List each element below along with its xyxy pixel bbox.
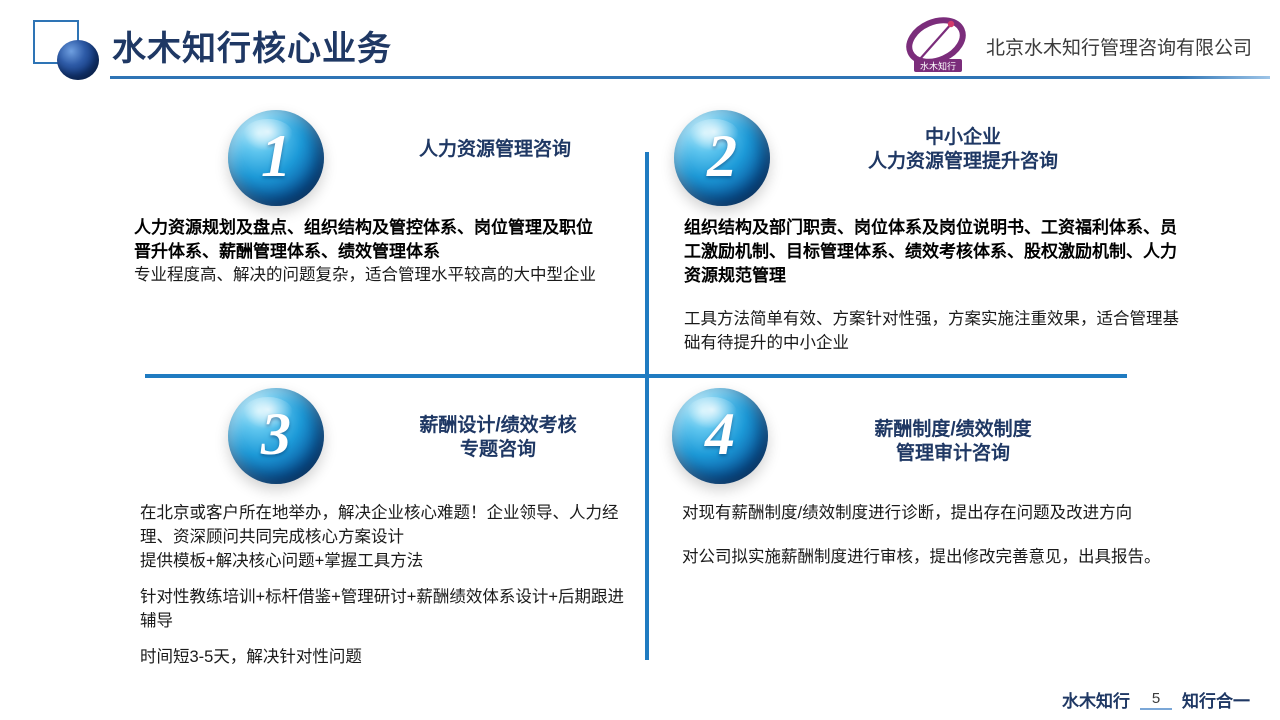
- company-name: 北京水木知行管理咨询有限公司: [986, 33, 1252, 60]
- number-badge-4: 4: [672, 388, 768, 484]
- quadrant-1-title: 人力资源管理咨询: [360, 138, 630, 162]
- quadrant-4-paragraph-1: 对现有薪酬制度/绩效制度进行诊断，提出存在问题及改进方向: [682, 502, 1162, 526]
- footer-left-text: 水木知行: [1062, 687, 1130, 712]
- badge-number-label: 1: [261, 126, 291, 186]
- quadrant-3: 3 薪酬设计/绩效考核 专题咨询 在北京或客户所在地举办，解决企业核心难题！企业…: [128, 388, 648, 670]
- number-badge-1: 1: [228, 110, 324, 206]
- quadrant-1-body: 人力资源规划及盘点、组织结构及管控体系、岗位管理及职位晋升体系、薪酬管理体系、绩…: [134, 216, 604, 288]
- page-number-block: 5: [1136, 688, 1176, 712]
- quadrant-1-bold-text: 人力资源规划及盘点、组织结构及管控体系、岗位管理及职位晋升体系、薪酬管理体系、绩…: [134, 216, 604, 264]
- quadrant-2-title: 中小企业 人力资源管理提升咨询: [798, 126, 1128, 175]
- badge-number-label: 3: [261, 404, 291, 464]
- square-and-sphere-icon: [33, 20, 99, 82]
- svg-text:水木知行: 水木知行: [920, 61, 956, 72]
- quadrant-2-body: 组织结构及部门职责、岗位体系及岗位说明书、工资福利体系、员工激励机制、目标管理体…: [684, 216, 1184, 356]
- quadrant-3-paragraph-2: 提供模板+解决核心问题+掌握工具方法: [140, 550, 640, 574]
- quadrant-3-title: 薪酬设计/绩效考核 专题咨询: [358, 414, 638, 463]
- quadrant-2-head: 2 中小企业 人力资源管理提升咨询: [668, 110, 1198, 210]
- quadrant-4: 4 薪酬制度/绩效制度 管理审计咨询 对现有薪酬制度/绩效制度进行诊断，提出存在…: [668, 388, 1198, 570]
- page-title: 水木知行核心业务: [112, 21, 392, 70]
- quadrant-3-head: 3 薪酬设计/绩效考核 专题咨询: [128, 388, 648, 488]
- quadrant-3-body: 在北京或客户所在地举办，解决企业核心难题！企业领导、人力经理、资深顾问共同完成核…: [140, 502, 640, 670]
- quadrant-3-paragraph-1: 在北京或客户所在地举办，解决企业核心难题！企业领导、人力经理、资深顾问共同完成核…: [140, 502, 640, 550]
- quadrant-4-title: 薪酬制度/绩效制度 管理审计咨询: [788, 418, 1118, 467]
- spacer: [140, 634, 640, 646]
- page-number: 5: [1152, 690, 1160, 707]
- quadrant-4-paragraph-2: 对公司拟实施薪酬制度进行审核，提出修改完善意见，出具报告。: [682, 546, 1162, 570]
- footer-right-text: 知行合一: [1182, 687, 1250, 712]
- quadrant-3-paragraph-4: 时间短3-5天，解决针对性问题: [140, 646, 640, 670]
- quadrant-1-paragraph-1: 专业程度高、解决的问题复杂，适合管理水平较高的大中型企业: [134, 264, 604, 288]
- header-underline-divider: [110, 76, 1270, 79]
- number-badge-3: 3: [228, 388, 324, 484]
- quadrant-2-paragraph-1: 工具方法简单有效、方案针对性强，方案实施注重效果，适合管理基础有待提升的中小企业: [684, 308, 1184, 356]
- spacer: [140, 574, 640, 586]
- quadrant-4-head: 4 薪酬制度/绩效制度 管理审计咨询: [668, 388, 1198, 488]
- quadrant-2: 2 中小企业 人力资源管理提升咨询 组织结构及部门职责、岗位体系及岗位说明书、工…: [668, 110, 1198, 356]
- blue-sphere-shape: [57, 40, 99, 80]
- quadrant-1: 1 人力资源管理咨询 人力资源规划及盘点、组织结构及管控体系、岗位管理及职位晋升…: [120, 110, 640, 288]
- quadrant-1-head: 1 人力资源管理咨询: [120, 110, 640, 210]
- slide-header: 水木知行核心业务 水木知行 北京水木知行管理咨询有限公司: [0, 0, 1280, 90]
- spacer: [682, 526, 1162, 546]
- shuimuzhixing-orbit-logo: 水木知行: [900, 17, 976, 75]
- quadrant-2-bold-text: 组织结构及部门职责、岗位体系及岗位说明书、工资福利体系、员工激励机制、目标管理体…: [684, 216, 1184, 288]
- brand-block: 水木知行 北京水木知行管理咨询有限公司: [900, 16, 1252, 76]
- quadrant-3-paragraph-3: 针对性教练培训+标杆借鉴+管理研讨+薪酬绩效体系设计+后期跟进辅导: [140, 586, 640, 634]
- horizontal-divider: [145, 374, 1127, 378]
- page-number-underline: [1140, 708, 1172, 710]
- badge-number-label: 2: [707, 126, 737, 186]
- quadrant-4-body: 对现有薪酬制度/绩效制度进行诊断，提出存在问题及改进方向 对公司拟实施薪酬制度进…: [682, 502, 1162, 570]
- badge-number-label: 4: [705, 404, 735, 464]
- spacer: [684, 288, 1184, 308]
- number-badge-2: 2: [674, 110, 770, 206]
- slide-footer: 水木知行 5 知行合一: [1062, 687, 1250, 712]
